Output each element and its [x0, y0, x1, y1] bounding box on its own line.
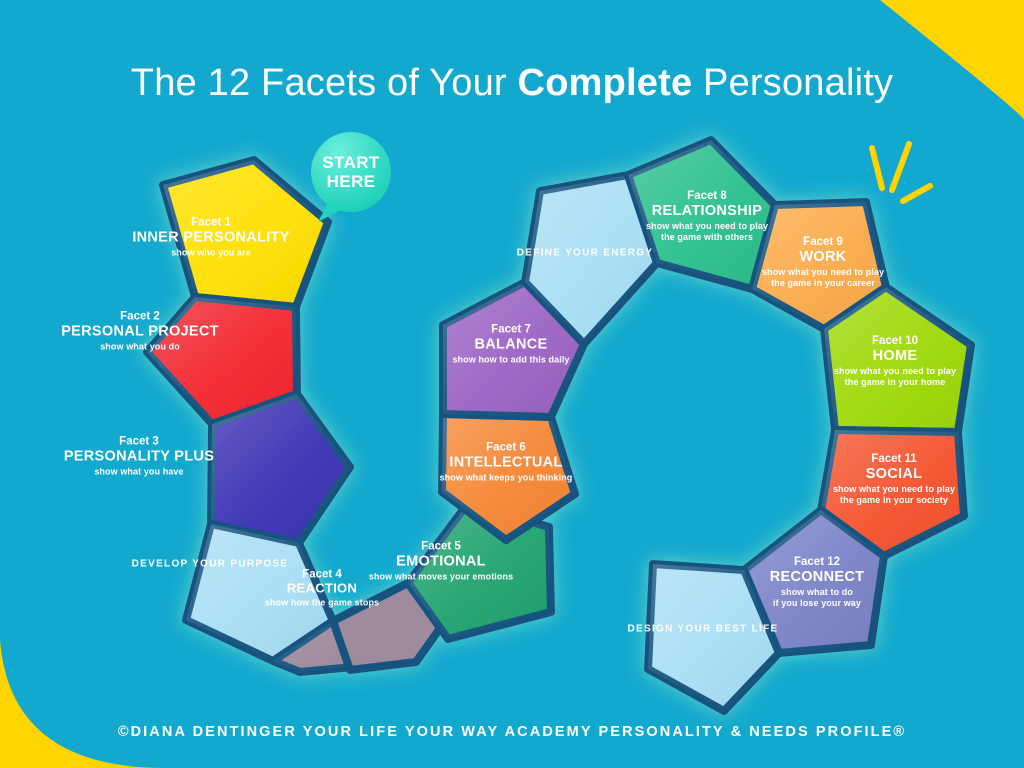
infographic-canvas: The 12 Facets of Your Complete Personali… — [0, 0, 1024, 768]
start-here-bubble[interactable] — [311, 132, 391, 222]
footer-credit: ©DIANA DENTINGER YOUR LIFE YOUR WAY ACAD… — [0, 724, 1024, 740]
page-title: The 12 Facets of Your Complete Personali… — [0, 62, 1024, 105]
title-bold: Complete — [518, 62, 693, 104]
title-suffix: Personality — [692, 62, 893, 104]
facet-ring — [0, 0, 1024, 768]
facet-shape-3[interactable] — [211, 394, 350, 543]
facet-shape-1[interactable] — [163, 160, 328, 307]
title-prefix: The 12 Facets of Your — [131, 62, 518, 104]
